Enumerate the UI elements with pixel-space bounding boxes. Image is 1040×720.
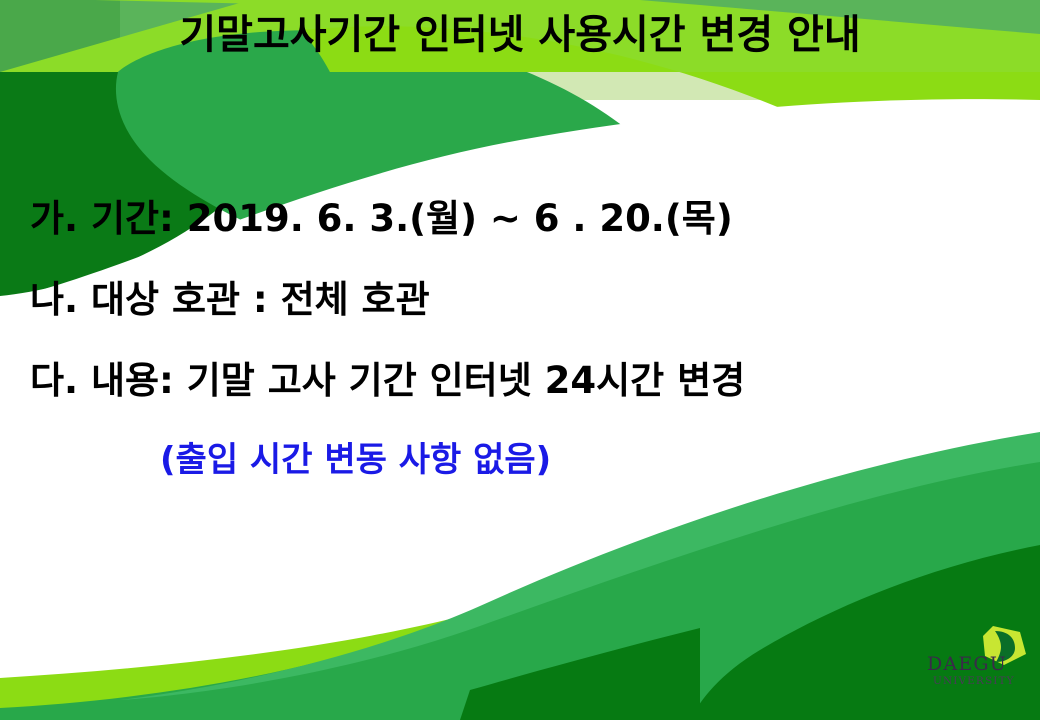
daegu-university-logo: DAEGU UNIVERSITY	[925, 622, 1030, 690]
body-line-target: 나. 대상 호관 : 전체 호관	[30, 281, 1020, 318]
slide-body: 가. 기간: 2019. 6. 3.(월) ~ 6 . 20.(목) 나. 대상…	[30, 200, 1020, 477]
logo-wordmark-university: UNIVERSITY	[933, 675, 1015, 687]
logo-wordmark-daegu: DAEGU	[927, 653, 1007, 675]
body-line-note: (출입 시간 변동 사항 없음)	[30, 443, 1020, 477]
body-line-content: 다. 내용: 기말 고사 기간 인터넷 24시간 변경	[30, 362, 1020, 399]
presentation-slide: 기말고사기간 인터넷 사용시간 변경 안내 가. 기간: 2019. 6. 3.…	[0, 0, 1040, 720]
slide-title-bar: 기말고사기간 인터넷 사용시간 변경 안내	[0, 0, 1040, 72]
logo-graphic: DAEGU UNIVERSITY	[925, 622, 1030, 690]
body-line-period: 가. 기간: 2019. 6. 3.(월) ~ 6 . 20.(목)	[30, 200, 1020, 237]
page-title: 기말고사기간 인터넷 사용시간 변경 안내	[179, 15, 860, 57]
